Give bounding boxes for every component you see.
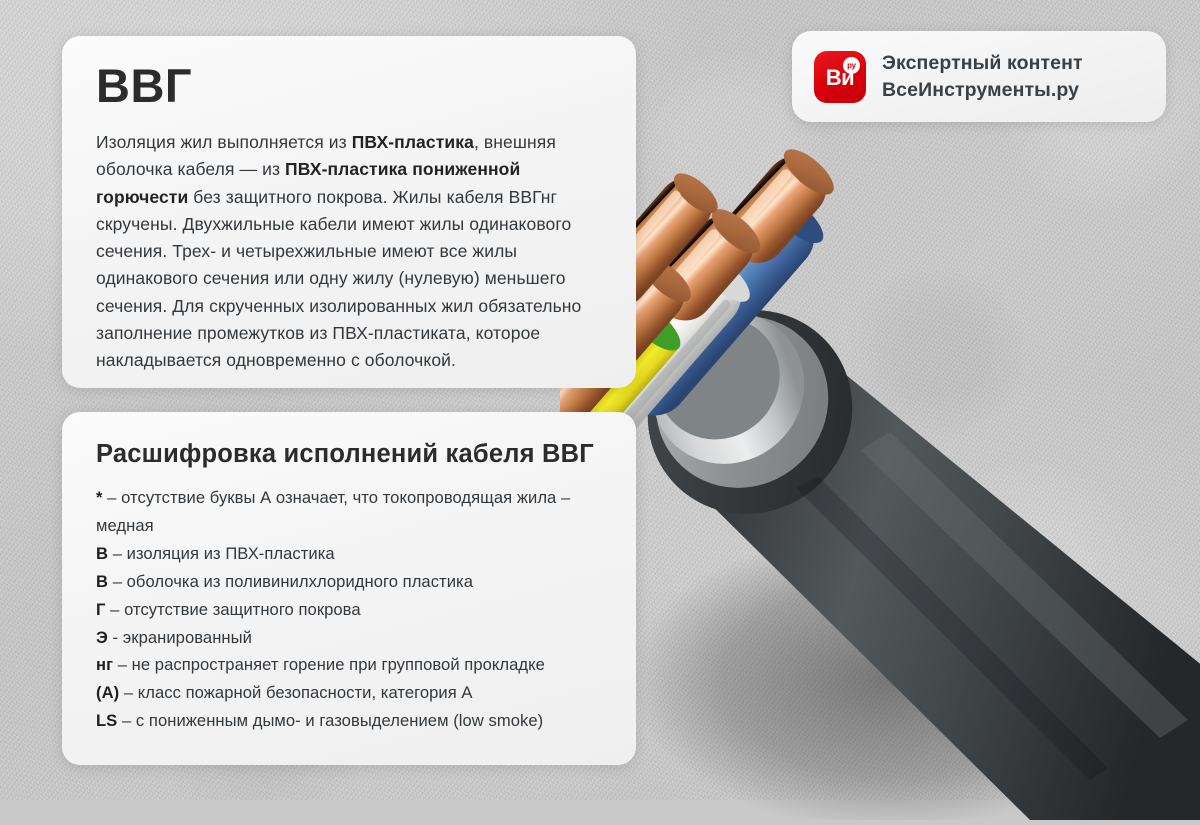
definition-text: – изоляция из ПВХ-пластика <box>108 544 335 563</box>
brand-line-2: ВсеИнструменты.ру <box>882 78 1083 102</box>
definition-text: – с пониженным дымо- и газовыделением (l… <box>117 711 543 730</box>
brand-text: Экспертный контент ВсеИнструменты.ру <box>882 51 1083 101</box>
definition-marker: LS <box>96 711 117 730</box>
definition-item: Г – отсутствие защитного покрова <box>96 596 602 624</box>
card-description: ВВГ Изоляция жил выполняется из ПВХ-плас… <box>62 36 636 388</box>
description-paragraph: Изоляция жил выполняется из ПВХ-пластика… <box>96 129 602 375</box>
definition-marker: нг <box>96 655 113 674</box>
brand-logo-superscript: ру <box>843 57 860 74</box>
definitions-list: * – отсутствие буквы А означает, что ток… <box>96 484 602 735</box>
paragraph-text: без защитного покрова. Жилы кабеля ВВГнг… <box>96 187 581 371</box>
definition-item: Э - экранированный <box>96 624 602 652</box>
definition-item: (А) – класс пожарной безопасности, катег… <box>96 679 602 707</box>
definition-text: – отсутствие защитного покрова <box>105 600 360 619</box>
brand-logo-icon: Ви ру <box>814 51 866 103</box>
definition-item: В – изоляция из ПВХ-пластика <box>96 540 602 568</box>
brand-line-1: Экспертный контент <box>882 51 1083 75</box>
paragraph-emphasis: ПВХ-пластика <box>352 132 474 152</box>
definition-item: нг – не распространяет горение при групп… <box>96 651 602 679</box>
definition-text: – оболочка из поливинилхлоридного пласти… <box>108 572 473 591</box>
definition-item: В – оболочка из поливинилхлоридного плас… <box>96 568 602 596</box>
definition-marker: В <box>96 572 108 591</box>
card-decoding: Расшифровка исполнений кабеля ВВГ * – от… <box>62 412 636 765</box>
definition-marker: В <box>96 544 108 563</box>
brand-badge: Ви ру Экспертный контент ВсеИнструменты.… <box>792 31 1166 122</box>
definition-marker: (А) <box>96 683 119 702</box>
definition-text: – отсутствие буквы А означает, что токоп… <box>96 488 570 535</box>
definition-item: LS – с пониженным дымо- и газовыделением… <box>96 707 602 735</box>
page-title: ВВГ <box>96 62 602 109</box>
definition-marker: Э <box>96 628 108 647</box>
cable-illustration <box>560 120 1200 820</box>
definition-text: - экранированный <box>108 628 252 647</box>
definition-text: – не распространяет горение при группово… <box>113 655 545 674</box>
section-title: Расшифровка исполнений кабеля ВВГ <box>96 436 602 472</box>
paragraph-text: Изоляция жил выполняется из <box>96 132 352 152</box>
definition-text: – класс пожарной безопасности, категория… <box>119 683 472 702</box>
definition-item: * – отсутствие буквы А означает, что ток… <box>96 484 602 540</box>
